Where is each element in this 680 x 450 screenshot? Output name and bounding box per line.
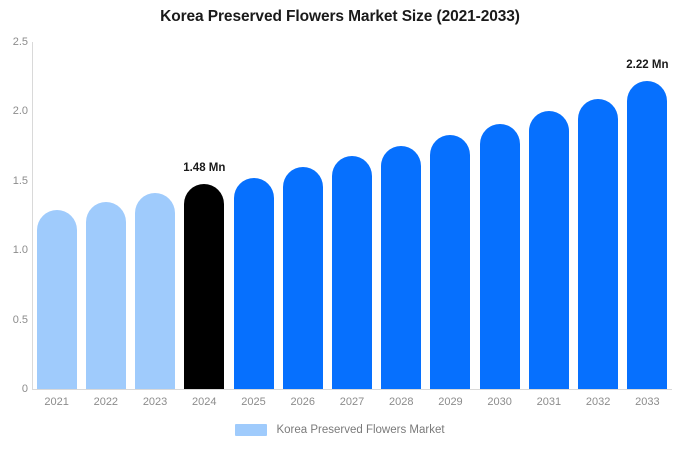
chart-title: Korea Preserved Flowers Market Size (202…	[0, 8, 680, 26]
x-axis-tick-label-2027: 2027	[327, 396, 376, 408]
bar-2022[interactable]	[86, 202, 126, 389]
y-axis-tick-label: 2.5	[2, 36, 28, 48]
bar-group[interactable]	[381, 42, 421, 389]
x-axis-tick-label-2030: 2030	[475, 396, 524, 408]
bar-2026[interactable]	[283, 167, 323, 389]
bar-2024[interactable]	[184, 184, 224, 389]
bar-2031[interactable]	[529, 111, 569, 389]
x-axis-line	[32, 389, 672, 390]
bar-chart: Korea Preserved Flowers Market Size (202…	[0, 0, 680, 450]
x-axis-tick-label-2031: 2031	[524, 396, 573, 408]
x-axis-tick-label-2028: 2028	[377, 396, 426, 408]
bar-2028[interactable]	[381, 146, 421, 389]
y-axis-tick-label: 2.0	[2, 105, 28, 117]
y-axis-tick-label: 0	[2, 383, 28, 395]
bar-group[interactable]	[37, 42, 77, 389]
bar-group[interactable]	[430, 42, 470, 389]
legend-label: Korea Preserved Flowers Market	[276, 424, 444, 436]
y-axis-tick-label: 1.5	[2, 175, 28, 187]
y-axis-tick-labels: 00.51.01.52.02.5	[0, 0, 28, 450]
bar-value-label-2024: 1.48 Mn	[183, 162, 225, 174]
bar-value-label-2033: 2.22 Mn	[626, 59, 668, 71]
y-axis-tick-label: 1.0	[2, 244, 28, 256]
bar-2033[interactable]	[627, 81, 667, 389]
bar-2029[interactable]	[430, 135, 470, 389]
bar-group[interactable]: 1.48 Mn	[184, 42, 224, 389]
bar-group[interactable]	[86, 42, 126, 389]
bar-group[interactable]	[283, 42, 323, 389]
chart-legend: Korea Preserved Flowers Market	[0, 424, 680, 436]
bar-group[interactable]	[135, 42, 175, 389]
bar-group[interactable]	[529, 42, 569, 389]
bar-2027[interactable]	[332, 156, 372, 389]
y-axis-tick-label: 0.5	[2, 314, 28, 326]
x-axis-tick-label-2024: 2024	[180, 396, 229, 408]
bar-group[interactable]	[480, 42, 520, 389]
plot-area: 1.48 Mn2.22 Mn	[32, 42, 672, 389]
bar-2021[interactable]	[37, 210, 77, 389]
x-axis-tick-label-2032: 2032	[574, 396, 623, 408]
bar-2023[interactable]	[135, 193, 175, 389]
bar-2032[interactable]	[578, 99, 618, 389]
x-axis-tick-label-2029: 2029	[426, 396, 475, 408]
x-axis-tick-label-2033: 2033	[623, 396, 672, 408]
x-axis-tick-label-2022: 2022	[81, 396, 130, 408]
bar-2025[interactable]	[234, 178, 274, 389]
x-axis-tick-label-2025: 2025	[229, 396, 278, 408]
x-axis-tick-label-2023: 2023	[130, 396, 179, 408]
bar-group[interactable]	[332, 42, 372, 389]
bar-2030[interactable]	[480, 124, 520, 389]
x-axis-tick-label-2021: 2021	[32, 396, 81, 408]
bar-group[interactable]: 2.22 Mn	[627, 42, 667, 389]
legend-swatch-icon	[235, 424, 267, 436]
bar-group[interactable]	[578, 42, 618, 389]
x-axis-tick-label-2026: 2026	[278, 396, 327, 408]
legend-item[interactable]: Korea Preserved Flowers Market	[235, 424, 444, 436]
bar-group[interactable]	[234, 42, 274, 389]
